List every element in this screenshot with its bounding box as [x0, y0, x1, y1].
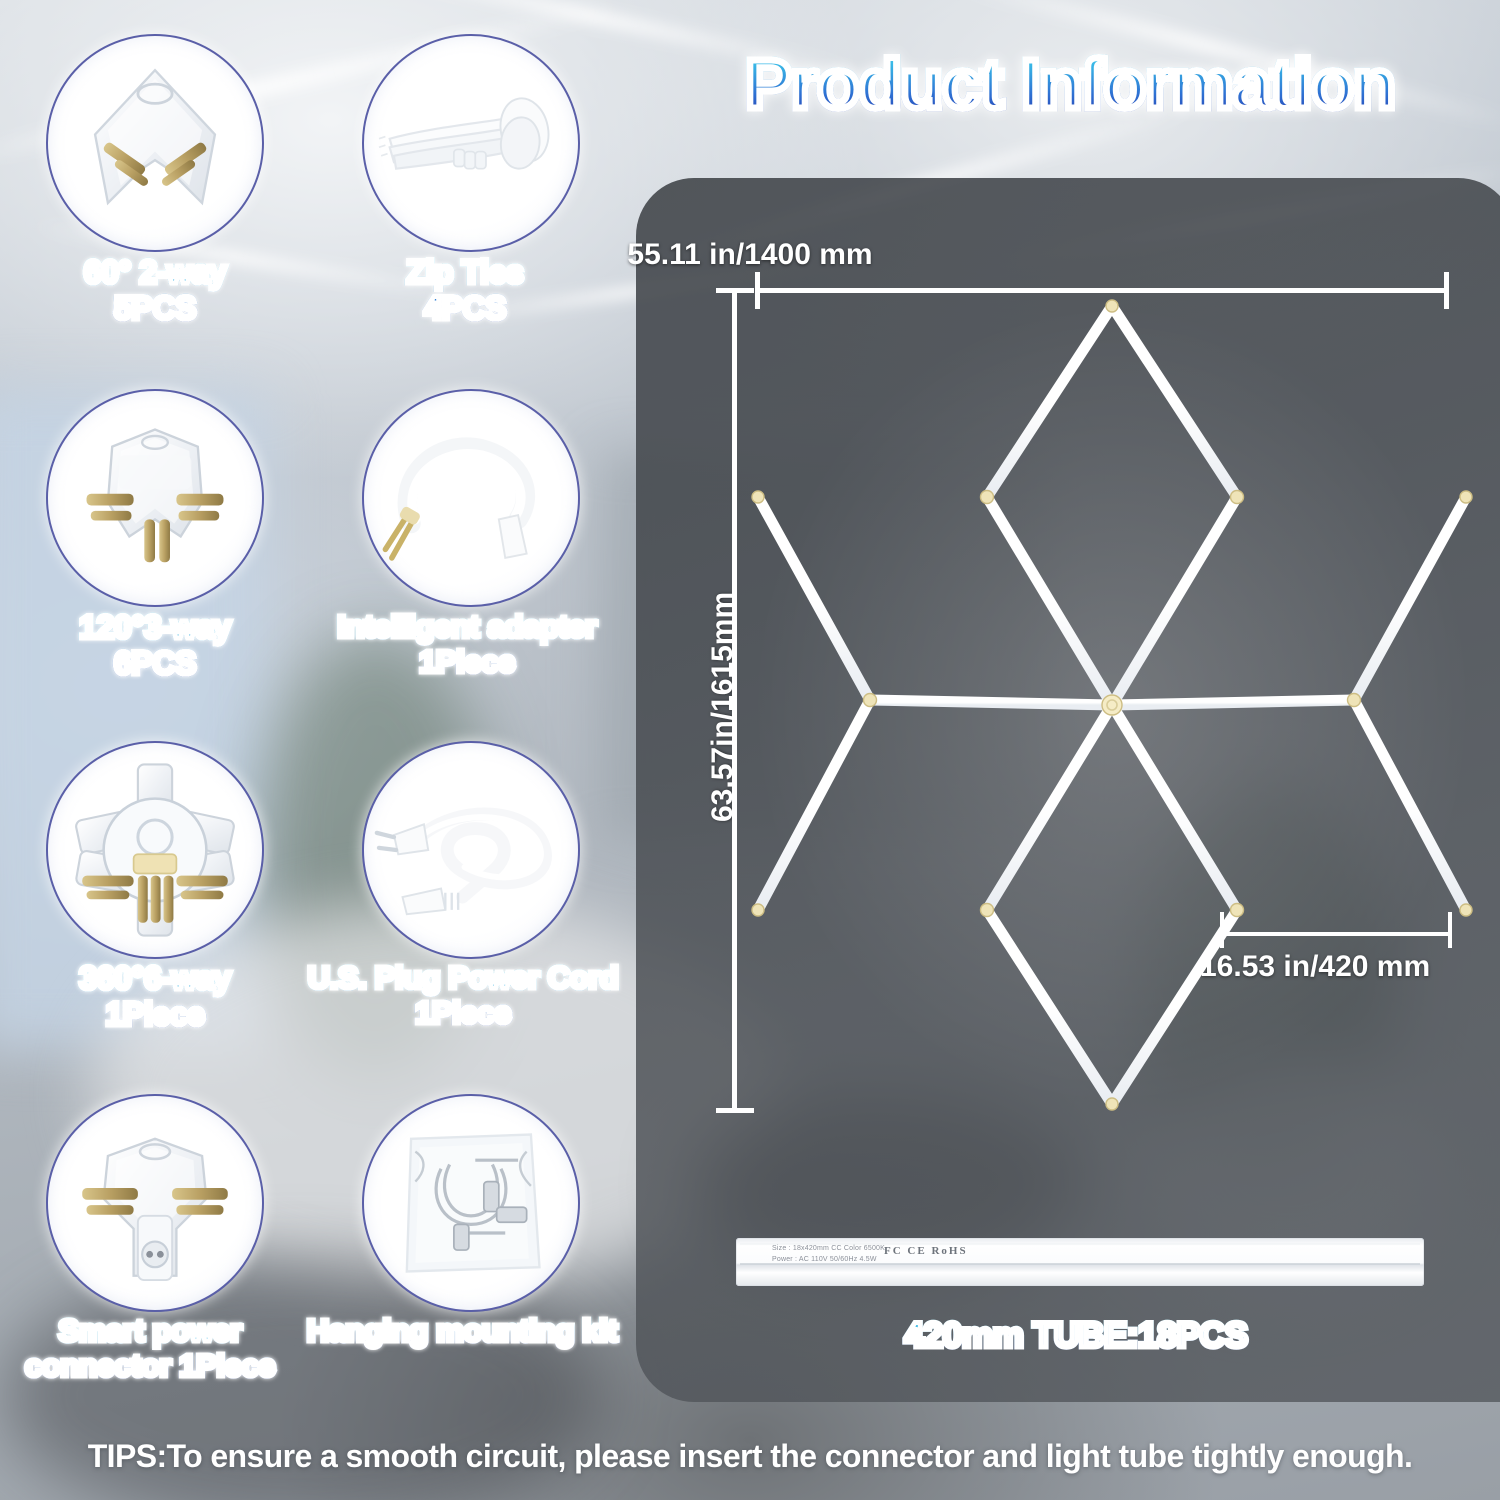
part-image-power-cord [362, 741, 580, 959]
part-image-connector-3way [46, 389, 264, 607]
led-tube-product: Size : 18x420mm CC Color 6500K Power : A… [736, 1238, 1424, 1286]
page-title: Product Information [640, 44, 1500, 124]
star-light-layout-icon [742, 290, 1482, 1120]
connector-6way-icon [48, 743, 262, 957]
dimension-line-height [732, 290, 737, 1112]
connector-2way-icon [48, 36, 262, 250]
hanging-kit-icon [364, 1096, 578, 1310]
part-label-power-cord: U.S. Plug Power Cord 1Piece [288, 961, 638, 1030]
power-cord-icon [364, 743, 578, 957]
part-image-zip-ties [362, 34, 580, 252]
part-image-smart-power-connector [46, 1094, 264, 1312]
part-image-connector-2way [46, 34, 264, 252]
dimension-label-width: 55.11 in/1400 mm [0, 238, 1500, 272]
tube-spec-text: Size : 18x420mm CC Color 6500K Power : A… [772, 1244, 885, 1265]
part-image-intelligent-adapter [362, 389, 580, 607]
light-fixture-diagram [742, 290, 1482, 1120]
smart-power-connector-icon [48, 1096, 262, 1310]
zip-ties-icon [364, 36, 578, 250]
part-label-smart-power-connector: Smart power connector 1Piece [0, 1314, 300, 1383]
part-label-connector-3way: 120°3-way 6PCS [0, 610, 310, 682]
part-label-intelligent-adapter: Intelligent adapter 1Piece [302, 610, 632, 679]
part-label-hanging-kit: Hanging mounting kit [286, 1314, 638, 1349]
certification-marks: FC CE RoHS [884, 1245, 968, 1257]
connector-3way-icon [48, 391, 262, 605]
tube-caption: 420mm TUBE:18PCS [636, 1316, 1500, 1356]
intelligent-adapter-icon [364, 391, 578, 605]
part-label-connector-6way: 360°6-way 1Piece [0, 961, 310, 1033]
part-image-connector-6way [46, 741, 264, 959]
part-image-hanging-kit [362, 1094, 580, 1312]
tips-text: TIPS:To ensure a smooth circuit, please … [0, 1438, 1500, 1475]
